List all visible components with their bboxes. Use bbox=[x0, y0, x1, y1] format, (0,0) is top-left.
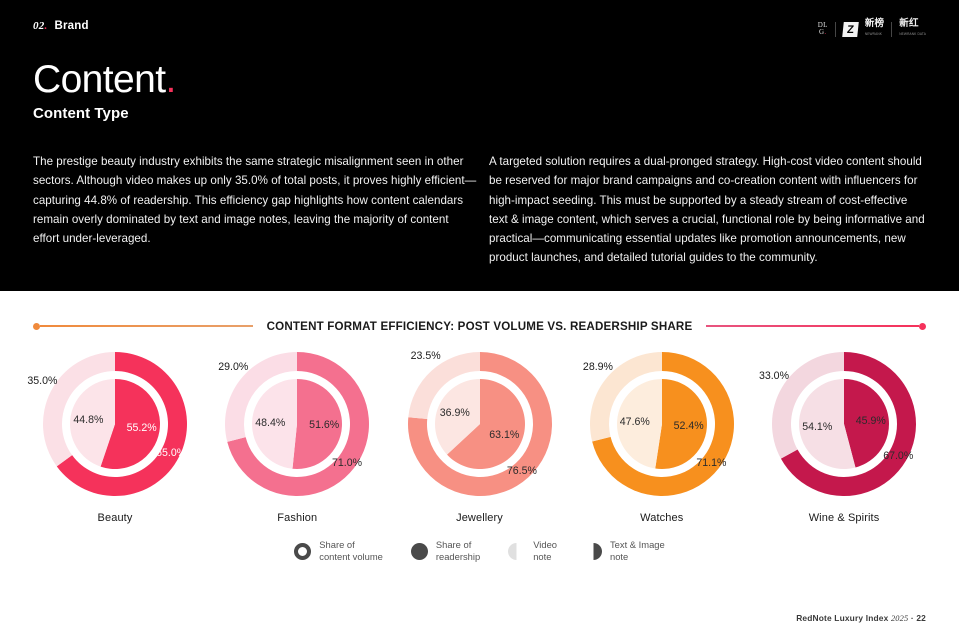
outer-label-text-image: 71.0% bbox=[332, 457, 362, 469]
donut-chart-fashion: 71.0%29.0%51.6%48.4%Fashion bbox=[218, 349, 376, 524]
filled-circle-icon bbox=[411, 543, 428, 560]
chart-panel: CONTENT FORMAT EFFICIENCY: POST VOLUME V… bbox=[0, 291, 959, 639]
donut-chart-beauty: 65.0%35.0%55.2%44.8%Beauty bbox=[36, 349, 194, 524]
section-label: Brand bbox=[54, 20, 88, 32]
legend-item[interactable]: Videonote bbox=[508, 539, 557, 563]
donut-chart-watches: 71.1%28.9%52.4%47.6%Watches bbox=[583, 349, 741, 524]
outer-label-video: 23.5% bbox=[411, 350, 441, 362]
legend-label-line2: note bbox=[610, 551, 665, 563]
inner-label-video: 54.1% bbox=[802, 421, 832, 433]
legend-label-line1: Share of bbox=[319, 539, 383, 551]
outer-label-video: 28.9% bbox=[583, 361, 613, 373]
outer-label-video: 35.0% bbox=[27, 375, 57, 387]
breadcrumb: 02. Brand bbox=[33, 20, 89, 32]
legend-label: Share ofcontent volume bbox=[319, 539, 383, 563]
donut-category-label: Watches bbox=[640, 512, 683, 524]
ring-outline-icon bbox=[294, 543, 311, 560]
inner-label-video: 44.8% bbox=[73, 414, 103, 426]
donut-graphic: 65.0%35.0%55.2%44.8% bbox=[40, 349, 190, 499]
legend-label-line2: readership bbox=[436, 551, 480, 563]
legend-label-line1: Text & Image bbox=[610, 539, 665, 551]
hero-panel: 02. Brand DL G. Z 新榜 NEWRANK 新红 NEWRANK … bbox=[0, 0, 959, 291]
legend-item[interactable]: Share ofreadership bbox=[411, 539, 480, 563]
donut-graphic: 76.5%23.5%63.1%36.9% bbox=[405, 349, 555, 499]
chart-title-rule: CONTENT FORMAT EFFICIENCY: POST VOLUME V… bbox=[33, 319, 926, 333]
chart-legend: Share ofcontent volumeShare ofreadership… bbox=[0, 539, 959, 563]
donut-graphic: 71.0%29.0%51.6%48.4% bbox=[222, 349, 372, 499]
inner-label-video: 36.9% bbox=[440, 407, 470, 419]
donut-category-label: Fashion bbox=[277, 512, 317, 524]
newrank-mark-icon: Z bbox=[842, 22, 859, 37]
logo-divider-2 bbox=[891, 22, 892, 37]
outer-label-text-image: 67.0% bbox=[883, 450, 913, 462]
inner-label-text-image: 63.1% bbox=[489, 429, 519, 441]
donut-category-label: Wine & Spirits bbox=[809, 512, 880, 524]
inner-label-video: 47.6% bbox=[620, 416, 650, 428]
legend-label-line1: Share of bbox=[436, 539, 480, 551]
outer-label-text-image: 71.1% bbox=[696, 457, 726, 469]
page-subtitle: Content Type bbox=[33, 105, 129, 122]
body-paragraph-right: A targeted solution requires a dual-pron… bbox=[489, 152, 926, 268]
outer-label-text-image: 65.0% bbox=[156, 447, 186, 459]
section-number: 02. bbox=[33, 20, 47, 32]
half-circle-dark-icon bbox=[585, 543, 602, 560]
rule-right bbox=[706, 325, 919, 327]
inner-label-video: 48.4% bbox=[255, 417, 285, 429]
donut-graphic: 67.0%33.0%45.9%54.1% bbox=[769, 349, 919, 499]
legend-item[interactable]: Text & Imagenote bbox=[585, 539, 665, 563]
legend-label-line2: note bbox=[533, 551, 557, 563]
outer-label-text-image: 76.5% bbox=[507, 465, 537, 477]
rule-left bbox=[40, 325, 253, 327]
legend-label-line2: content volume bbox=[319, 551, 383, 563]
inner-label-text-image: 55.2% bbox=[127, 422, 157, 434]
legend-label: Share ofreadership bbox=[436, 539, 480, 563]
chart-title: CONTENT FORMAT EFFICIENCY: POST VOLUME V… bbox=[253, 320, 707, 333]
page-title: Content. bbox=[33, 58, 176, 102]
outer-label-video: 29.0% bbox=[218, 361, 248, 373]
donut-category-label: Jewellery bbox=[456, 512, 503, 524]
donut-chart-row: 65.0%35.0%55.2%44.8%Beauty71.0%29.0%51.6… bbox=[0, 349, 959, 524]
outer-label-video: 33.0% bbox=[759, 370, 789, 382]
brand-logos: DL G. Z 新榜 NEWRANK 新红 NEWRANK DATA bbox=[818, 19, 926, 39]
body-paragraph-left: The prestige beauty industry exhibits th… bbox=[33, 152, 477, 248]
dlg-logo: DL G. bbox=[818, 22, 828, 37]
newrank-wordmark: 新榜 NEWRANK bbox=[865, 19, 884, 39]
donut-category-label: Beauty bbox=[98, 512, 133, 524]
donut-chart-jewellery: 76.5%23.5%63.1%36.9%Jewellery bbox=[401, 349, 559, 524]
rule-dot-left-icon bbox=[33, 323, 40, 330]
logo-divider-1 bbox=[835, 22, 836, 37]
legend-item[interactable]: Share ofcontent volume bbox=[294, 539, 383, 563]
half-circle-light-icon bbox=[508, 543, 525, 560]
footer-note: RedNote Luxury Index 2025 · 22 bbox=[796, 613, 926, 623]
donut-chart-wine-spirits: 67.0%33.0%45.9%54.1%Wine & Spirits bbox=[765, 349, 923, 524]
inner-label-text-image: 45.9% bbox=[856, 415, 886, 427]
inner-label-text-image: 51.6% bbox=[309, 419, 339, 431]
legend-label-line1: Video bbox=[533, 539, 557, 551]
inner-label-text-image: 52.4% bbox=[674, 420, 704, 432]
donut-graphic: 71.1%28.9%52.4%47.6% bbox=[587, 349, 737, 499]
legend-label: Videonote bbox=[533, 539, 557, 563]
legend-label: Text & Imagenote bbox=[610, 539, 665, 563]
rule-dot-right-icon bbox=[919, 323, 926, 330]
newrank-data-wordmark: 新红 NEWRANK DATA bbox=[899, 19, 926, 39]
